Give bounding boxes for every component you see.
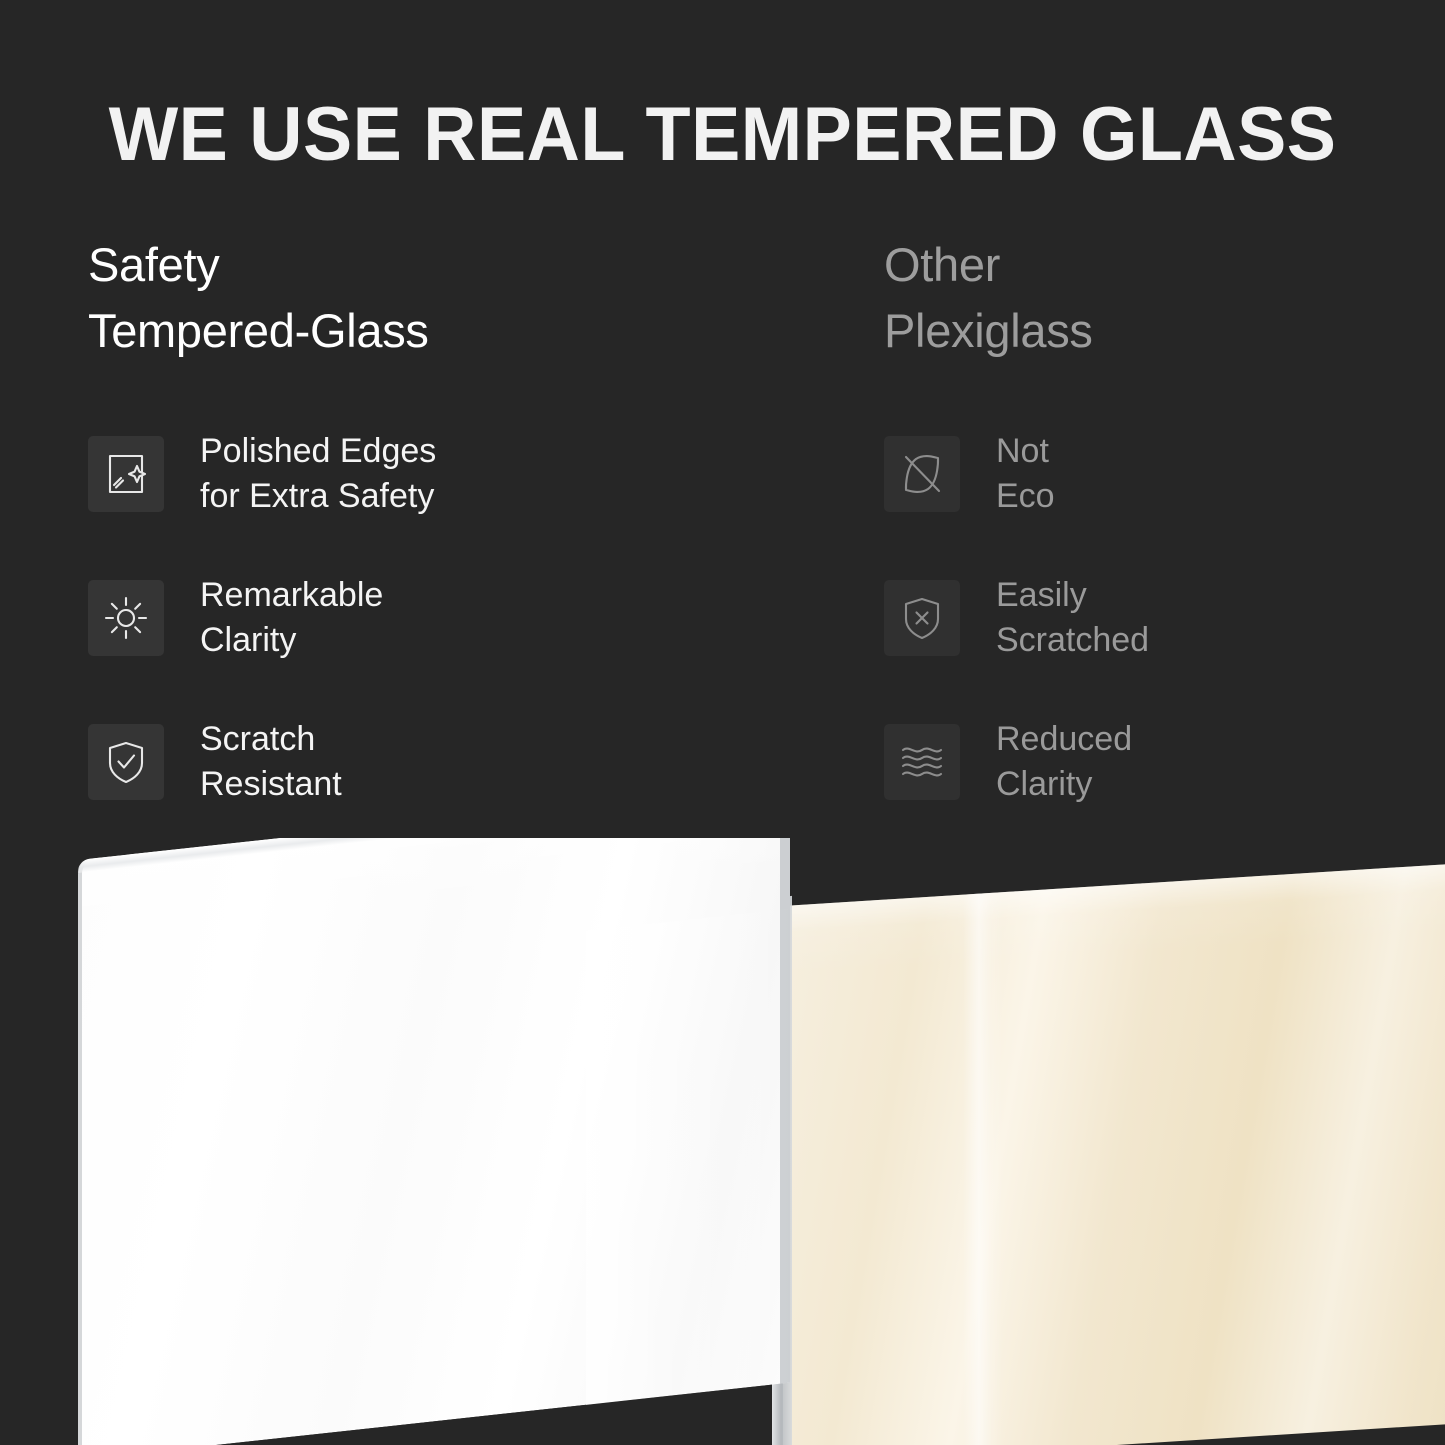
- page-title: WE USE REAL TEMPERED GLASS: [22, 87, 1424, 183]
- feature-row: Remarkable Clarity: [88, 568, 648, 668]
- shield-x-icon: [884, 580, 960, 656]
- comparison-columns: Safety Tempered-Glass Polished Edges for…: [0, 232, 1445, 832]
- feature-row: Polished Edges for Extra Safety: [88, 424, 648, 524]
- column-other-plexiglass: Other Plexiglass Not Eco: [884, 232, 1444, 812]
- feature-label: Not Eco: [996, 429, 1055, 519]
- product-photo: [0, 838, 1445, 1445]
- feature-row: Scratch Resistant: [88, 712, 648, 812]
- column-title-other-plexiglass: Other Plexiglass: [884, 232, 1444, 364]
- feature-label: Easily Scratched: [996, 573, 1149, 663]
- feature-list-other-plexiglass: Not Eco Easily Scratched: [884, 424, 1444, 812]
- feature-list-tempered-glass: Polished Edges for Extra Safety: [88, 424, 648, 812]
- shield-check-icon: [88, 724, 164, 800]
- feature-row: Reduced Clarity: [884, 712, 1444, 812]
- column-title-tempered-glass: Safety Tempered-Glass: [88, 232, 648, 364]
- plexiglass-panel: [783, 862, 1445, 1445]
- sun-brightness-icon: [88, 580, 164, 656]
- tempered-glass-panel: [78, 838, 790, 1445]
- polished-glass-pane-sparkle-icon: [88, 436, 164, 512]
- feature-label: Scratch Resistant: [200, 717, 342, 807]
- product-comparison-infographic: WE USE REAL TEMPERED GLASS Safety Temper…: [0, 0, 1445, 1445]
- column-tempered-glass: Safety Tempered-Glass Polished Edges for…: [88, 232, 648, 812]
- feature-row: Easily Scratched: [884, 568, 1444, 668]
- wavy-lines-icon: [884, 724, 960, 800]
- feature-label: Remarkable Clarity: [200, 573, 383, 663]
- feature-row: Not Eco: [884, 424, 1444, 524]
- leaf-crossed-out-icon: [884, 436, 960, 512]
- feature-label: Polished Edges for Extra Safety: [200, 429, 436, 519]
- feature-label: Reduced Clarity: [996, 717, 1132, 807]
